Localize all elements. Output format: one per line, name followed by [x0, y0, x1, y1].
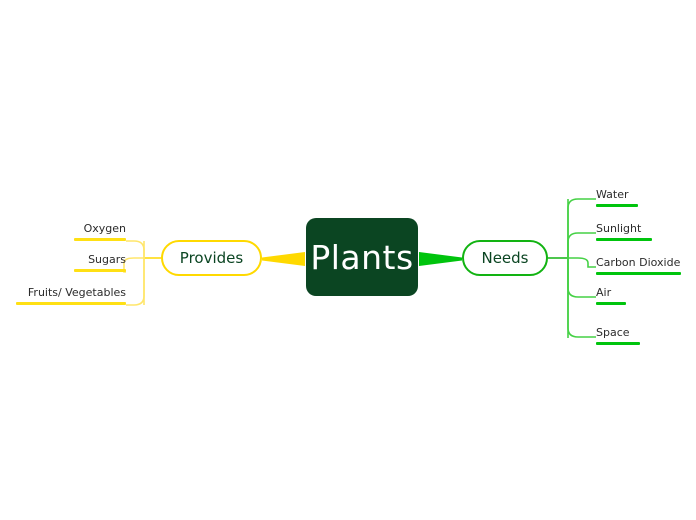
leaf-fruits-vegetables[interactable]: Fruits/ Vegetables	[16, 277, 126, 305]
leaf-sugars-label: Sugars	[88, 253, 126, 266]
leaf-sugars[interactable]: Sugars	[16, 244, 126, 272]
provides-elbow-fruits-vegetables	[126, 258, 144, 305]
leaf-water-underline	[596, 204, 638, 207]
needs-elbow-air	[568, 258, 596, 297]
branch-node-provides[interactable]: Provides	[161, 240, 262, 276]
connector-root-to-provides	[262, 252, 305, 266]
leaf-carbon-dioxide-label: Carbon Dioxide	[596, 256, 680, 269]
leaf-sugars-underline	[74, 269, 126, 272]
leaf-air-label: Air	[596, 286, 611, 299]
provides-elbow-sugars	[124, 258, 144, 272]
leaf-water-label: Water	[596, 188, 629, 201]
root-node-label: Plants	[310, 241, 413, 274]
leaf-sunlight-label: Sunlight	[596, 222, 641, 235]
leaf-oxygen-underline	[74, 238, 126, 241]
leaf-fruits-vegetables-underline	[16, 302, 126, 305]
leaf-space-label: Space	[596, 326, 630, 339]
branch-node-provides-label: Provides	[180, 249, 243, 267]
connector-root-to-needs	[419, 252, 462, 266]
provides-elbow-oxygen	[126, 241, 144, 258]
needs-elbow-carbon-dioxide	[568, 258, 596, 267]
mindmap-canvas: Plants Provides Needs Oxygen Sugars Frui…	[0, 0, 696, 520]
branch-node-needs-label: Needs	[481, 249, 528, 267]
leaf-carbon-dioxide-underline	[596, 272, 681, 275]
leaf-oxygen[interactable]: Oxygen	[16, 213, 126, 241]
leaf-space-underline	[596, 342, 640, 345]
leaf-oxygen-label: Oxygen	[84, 222, 126, 235]
leaf-air-underline	[596, 302, 626, 305]
root-node-plants[interactable]: Plants	[306, 218, 418, 296]
branch-node-needs[interactable]: Needs	[462, 240, 548, 276]
leaf-fruits-vegetables-label: Fruits/ Vegetables	[28, 286, 126, 299]
needs-elbow-sunlight	[568, 233, 596, 258]
needs-elbow-water	[568, 199, 596, 258]
leaf-sunlight-underline	[596, 238, 652, 241]
